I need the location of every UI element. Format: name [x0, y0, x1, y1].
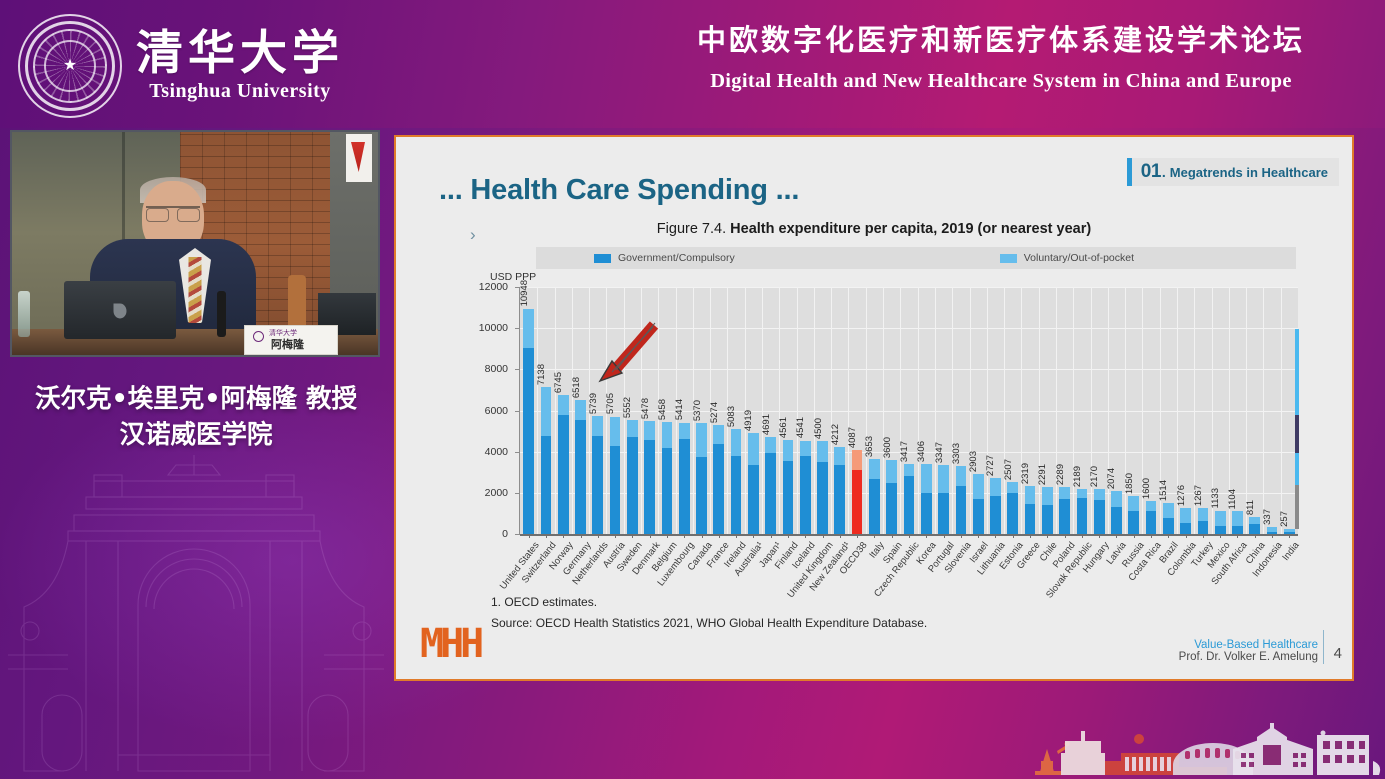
- bar-value-label: 2727: [985, 455, 996, 476]
- bar-segment-voluntary: [1180, 508, 1191, 524]
- bar-segment-government: [852, 470, 863, 534]
- x-axis-tick-mark: [684, 534, 685, 538]
- bar-value-label: 5705: [605, 393, 616, 414]
- bar-segment-voluntary: [1198, 508, 1209, 521]
- y-axis-tick-label: 8000: [466, 363, 508, 375]
- vertical-gridline: [797, 287, 798, 534]
- vertical-gridline: [537, 287, 538, 534]
- x-axis-tick-mark: [788, 534, 789, 538]
- legend-label-voluntary: Voluntary/Out-of-pocket: [1024, 252, 1134, 264]
- bar-segment-government: [765, 453, 776, 534]
- x-axis-tick-mark: [1099, 534, 1100, 538]
- bar-segment-government: [817, 462, 828, 534]
- legend-item-government: Government/Compulsory: [594, 252, 735, 264]
- x-axis-tick-mark: [598, 534, 599, 538]
- bar-segment-voluntary: [990, 478, 1001, 496]
- bar-value-label: 7138: [536, 364, 547, 385]
- bar-segment-voluntary: [904, 464, 915, 476]
- vertical-gridline: [1021, 287, 1022, 534]
- chart-right-scroll-strip[interactable]: [1295, 329, 1299, 529]
- bar-segment-government: [1025, 504, 1036, 534]
- bar-segment-government: [938, 493, 949, 534]
- vertical-gridline: [918, 287, 919, 534]
- bar-segment-government: [558, 415, 569, 534]
- chart-bar: [1059, 487, 1070, 534]
- bar-segment-voluntary: [748, 433, 759, 465]
- bar-segment-voluntary: [973, 474, 984, 498]
- x-axis-tick-mark: [944, 534, 945, 538]
- vertical-gridline: [831, 287, 832, 534]
- bar-segment-voluntary: [575, 400, 586, 420]
- bar-value-label: 4212: [830, 424, 841, 445]
- vertical-gridline: [900, 287, 901, 534]
- bar-segment-government: [1180, 523, 1191, 534]
- bar-value-label: 10948: [519, 280, 530, 306]
- bar-value-label: 4500: [813, 418, 824, 439]
- bar-value-label: 4541: [795, 417, 806, 438]
- x-axis-tick-mark: [840, 534, 841, 538]
- bar-value-label: 4919: [743, 410, 754, 431]
- speaker-name-block: 沃尔克•埃里克•阿梅隆 教授 汉诺威医学院: [0, 381, 392, 453]
- city-skyline-graphic: [995, 723, 1385, 779]
- bar-segment-voluntary: [1163, 503, 1174, 518]
- chart-bar: [852, 450, 863, 534]
- gridline: [520, 411, 1298, 412]
- x-axis-tick-mark: [1134, 534, 1135, 538]
- bar-value-label: 5274: [709, 402, 720, 423]
- x-axis-tick-mark: [995, 534, 996, 538]
- chart-bar: [1025, 486, 1036, 534]
- bar-segment-government: [1128, 511, 1139, 534]
- chart-bar: [627, 420, 638, 534]
- bar-segment-government: [1059, 499, 1070, 534]
- chart-bar: [1042, 487, 1053, 534]
- nameplate-name: 阿梅隆: [271, 336, 304, 352]
- bar-segment-government: [523, 348, 534, 534]
- speaker-name-cn: 沃尔克•埃里克•阿梅隆 教授: [0, 381, 392, 417]
- bar-segment-government: [1077, 498, 1088, 534]
- y-axis-tick-mark: [515, 452, 520, 453]
- bar-value-label: 5739: [588, 393, 599, 414]
- bar-value-label: 5478: [640, 398, 651, 419]
- x-axis-tick-mark: [961, 534, 962, 538]
- bar-segment-government: [1094, 500, 1105, 534]
- legend-swatch-voluntary: [1000, 254, 1017, 263]
- chart-bar: [1198, 508, 1209, 534]
- bar-segment-voluntary: [1249, 517, 1260, 524]
- chart-footnote: 1. OECD estimates.: [491, 595, 597, 609]
- legend-swatch-government: [594, 254, 611, 263]
- gridline: [520, 287, 1298, 288]
- chart-bar: [592, 416, 603, 534]
- bar-segment-voluntary: [558, 395, 569, 414]
- bar-segment-government: [1007, 493, 1018, 534]
- chart-bar: [610, 417, 621, 534]
- vertical-gridline: [1073, 287, 1074, 534]
- bar-segment-voluntary: [886, 460, 897, 483]
- bar-segment-government: [627, 437, 638, 534]
- x-axis-tick-mark: [753, 534, 754, 538]
- chart-bar: [731, 429, 742, 534]
- x-axis-tick-mark: [632, 534, 633, 538]
- chart-bar: [765, 437, 776, 534]
- bar-segment-government: [886, 483, 897, 534]
- chart-bar: [783, 440, 794, 534]
- bar-segment-government: [1232, 526, 1243, 534]
- bar-segment-voluntary: [1284, 529, 1295, 532]
- chart-bar: [990, 478, 1001, 534]
- x-axis-tick-mark: [1168, 534, 1169, 538]
- bar-segment-voluntary: [1042, 487, 1053, 505]
- bar-segment-voluntary: [731, 429, 742, 456]
- vertical-gridline: [1108, 287, 1109, 534]
- bar-segment-government: [921, 493, 932, 534]
- chart-bar: [886, 460, 897, 534]
- bar-value-label: 2189: [1072, 466, 1083, 487]
- bar-segment-government: [1215, 526, 1226, 534]
- bar-segment-government: [956, 486, 967, 534]
- bar-segment-voluntary: [679, 423, 690, 440]
- bar-value-label: 3347: [934, 442, 945, 463]
- x-axis-tick-mark: [719, 534, 720, 538]
- bar-value-label: 2319: [1020, 463, 1031, 484]
- x-axis-tick-mark: [1013, 534, 1014, 538]
- bar-segment-voluntary: [1215, 511, 1226, 526]
- bar-value-label: 2903: [968, 451, 979, 472]
- bar-segment-voluntary: [1094, 489, 1105, 500]
- vertical-gridline: [555, 287, 556, 534]
- chart-bar: [1180, 508, 1191, 534]
- vertical-gridline: [1056, 287, 1057, 534]
- page-divider: [1323, 630, 1325, 664]
- section-label: Megatrends in Healthcare: [1170, 165, 1328, 180]
- vertical-gridline: [987, 287, 988, 534]
- bar-segment-voluntary: [817, 441, 828, 461]
- chart-bar: [1249, 517, 1260, 534]
- bar-value-label: 5552: [622, 397, 633, 418]
- bar-segment-voluntary: [783, 440, 794, 461]
- bar-segment-voluntary: [627, 420, 638, 438]
- bar-segment-government: [592, 436, 603, 534]
- vertical-gridline: [952, 287, 953, 534]
- bar-segment-voluntary: [1267, 527, 1278, 531]
- red-arrow-annotation: [592, 321, 662, 383]
- forum-title-en: Digital Health and New Healthcare System…: [651, 70, 1351, 93]
- bar-value-label: 1276: [1176, 485, 1187, 506]
- legend-item-voluntary: Voluntary/Out-of-pocket: [1000, 252, 1134, 264]
- bar-segment-government: [1198, 521, 1209, 534]
- bar-segment-government: [1163, 518, 1174, 534]
- figure-title: Health expenditure per capita, 2019 (or …: [730, 221, 1091, 237]
- chart-bar: [973, 474, 984, 534]
- bar-segment-voluntary: [1007, 482, 1018, 493]
- x-axis-tick-mark: [1116, 534, 1117, 538]
- chart-bar: [921, 464, 932, 534]
- bar-value-label: 811: [1245, 500, 1256, 515]
- y-axis-tick-mark: [515, 493, 520, 494]
- bar-segment-government: [1249, 524, 1260, 534]
- bar-value-label: 257: [1279, 511, 1290, 527]
- bar-value-label: 3406: [916, 441, 927, 462]
- bar-value-label: 1514: [1158, 480, 1169, 501]
- bar-segment-voluntary: [852, 450, 863, 470]
- chart-bar: [1146, 501, 1157, 534]
- chart-bar: [1077, 489, 1088, 534]
- chart-bar: [1111, 491, 1122, 534]
- x-axis-tick-label: India: [1281, 540, 1302, 563]
- x-axis-tick-mark: [823, 534, 824, 538]
- bar-segment-voluntary: [1111, 491, 1122, 507]
- speaker-video-feed[interactable]: 清华大学 阿梅隆: [10, 130, 380, 357]
- bar-segment-voluntary: [938, 465, 949, 493]
- vertical-gridline: [814, 287, 815, 534]
- tsinghua-logo-block: ★ 清华大学 Tsinghua University: [18, 14, 344, 118]
- bar-segment-government: [990, 496, 1001, 534]
- page-number: 4: [1334, 645, 1342, 662]
- chart-bar: [541, 387, 552, 534]
- bar-value-label: 5370: [692, 400, 703, 421]
- x-axis-tick-mark: [736, 534, 737, 538]
- bar-value-label: 5083: [726, 406, 737, 427]
- chart-bar: [1094, 489, 1105, 534]
- bar-segment-government: [610, 446, 621, 534]
- bar-segment-voluntary: [592, 416, 603, 436]
- y-axis-tick-label: 2000: [466, 487, 508, 499]
- chart-bar: [1128, 496, 1139, 534]
- chart-bar: [1215, 511, 1226, 534]
- vertical-gridline: [762, 287, 763, 534]
- chart-bar: [662, 422, 673, 534]
- chart-bar: [713, 425, 724, 534]
- y-axis-tick-label: 4000: [466, 446, 508, 458]
- x-axis-tick-mark: [978, 534, 979, 538]
- bar-segment-government: [1042, 505, 1053, 534]
- bar-segment-government: [800, 456, 811, 534]
- bar-segment-government: [541, 436, 552, 534]
- figure-caption: Figure 7.4. Health expenditure per capit…: [396, 221, 1352, 237]
- x-axis-tick-mark: [1272, 534, 1273, 538]
- x-axis-tick-mark: [1203, 534, 1204, 538]
- bar-segment-voluntary: [541, 387, 552, 436]
- forum-title-block: 中欧数字化医疗和新医疗体系建设学术论坛 Digital Health and N…: [651, 22, 1351, 93]
- chart-bar: [938, 465, 949, 534]
- x-axis-tick-mark: [702, 534, 703, 538]
- x-axis-tick-mark: [546, 534, 547, 538]
- bar-value-label: 3653: [864, 436, 875, 457]
- x-axis-tick-mark: [1186, 534, 1187, 538]
- x-axis-tick-mark: [1289, 534, 1290, 538]
- footer-brand: Value-Based Healthcare: [1179, 639, 1318, 651]
- x-axis-tick-mark: [909, 534, 910, 538]
- slide-title: ... Health Care Spending ...: [439, 174, 799, 207]
- x-axis-tick-mark: [529, 534, 530, 538]
- bar-segment-government: [783, 461, 794, 534]
- bar-value-label: 4561: [778, 417, 789, 438]
- vertical-gridline: [935, 287, 936, 534]
- x-axis-tick-mark: [563, 534, 564, 538]
- vertical-gridline: [779, 287, 780, 534]
- bar-segment-government: [731, 456, 742, 534]
- bar-segment-government: [662, 448, 673, 534]
- x-axis-tick-mark: [1237, 534, 1238, 538]
- vertical-gridline: [1281, 287, 1282, 534]
- x-axis-tick-mark: [1255, 534, 1256, 538]
- chart-bar: [558, 395, 569, 534]
- chart-bar: [1163, 503, 1174, 534]
- bar-segment-government: [904, 476, 915, 534]
- bar-segment-voluntary: [921, 464, 932, 493]
- vertical-gridline: [848, 287, 849, 534]
- bar-value-label: 5414: [674, 399, 685, 420]
- x-axis-tick-mark: [805, 534, 806, 538]
- health-expenditure-bar-chart: USD PPP 10948713867456518573957055552547…: [396, 273, 1356, 573]
- university-name-en: Tsinghua University: [136, 80, 344, 103]
- chart-legend: Government/Compulsory Voluntary/Out-of-p…: [536, 247, 1296, 269]
- mhh-logo: MHH: [420, 621, 480, 667]
- bar-segment-voluntary: [1077, 489, 1088, 498]
- bar-value-label: 3600: [882, 437, 893, 458]
- slide-footer: Value-Based Healthcare Prof. Dr. Volker …: [1179, 639, 1318, 663]
- bar-segment-voluntary: [800, 441, 811, 457]
- vertical-gridline: [572, 287, 573, 534]
- bar-value-label: 337: [1262, 509, 1273, 525]
- chart-bar: [1232, 511, 1243, 534]
- figure-number: Figure 7.4.: [657, 221, 726, 237]
- vertical-gridline: [1125, 287, 1126, 534]
- y-axis-tick-label: 10000: [466, 322, 508, 334]
- x-axis-tick-mark: [1220, 534, 1221, 538]
- presentation-stage: ★ 清华大学 Tsinghua University 中欧数字化医疗和新医疗体系…: [0, 0, 1385, 779]
- x-axis-tick-mark: [771, 534, 772, 538]
- bar-segment-voluntary: [1128, 496, 1139, 511]
- y-axis-tick-mark: [515, 328, 520, 329]
- bar-segment-government: [973, 499, 984, 534]
- forum-title-cn: 中欧数字化医疗和新医疗体系建设学术论坛: [651, 22, 1351, 60]
- chart-bar: [1267, 527, 1278, 534]
- bar-value-label: 1850: [1124, 473, 1135, 494]
- legend-label-government: Government/Compulsory: [618, 252, 735, 264]
- y-axis-tick-mark: [515, 369, 520, 370]
- bar-value-label: 2507: [1003, 459, 1014, 480]
- y-axis-tick-mark: [515, 287, 520, 288]
- chart-bar: [575, 400, 586, 534]
- bar-value-label: 1600: [1141, 478, 1152, 499]
- bar-segment-voluntary: [765, 437, 776, 452]
- tsinghua-seal-icon: ★: [18, 14, 122, 118]
- bar-value-label: 1104: [1227, 489, 1238, 509]
- y-axis-tick-label: 12000: [466, 281, 508, 293]
- chart-bar: [817, 441, 828, 534]
- bar-segment-voluntary: [869, 459, 880, 480]
- x-axis-tick-mark: [667, 534, 668, 538]
- x-axis-tick-mark: [857, 534, 858, 538]
- y-axis-tick-mark: [515, 534, 520, 535]
- x-axis-tick-mark: [874, 534, 875, 538]
- x-axis-tick-mark: [926, 534, 927, 538]
- bar-segment-voluntary: [523, 309, 534, 348]
- bar-segment-voluntary: [834, 447, 845, 465]
- bar-segment-government: [748, 465, 759, 534]
- bar-segment-government: [679, 439, 690, 534]
- x-axis-tick-mark: [1065, 534, 1066, 538]
- bar-segment-voluntary: [1232, 511, 1243, 525]
- chart-bar: [956, 466, 967, 534]
- chart-bar: [748, 433, 759, 534]
- x-axis-tick-mark: [581, 534, 582, 538]
- bar-value-label: 4691: [761, 414, 772, 435]
- bar-segment-government: [696, 457, 707, 534]
- speaker-affiliation-cn: 汉诺威医学院: [0, 417, 392, 453]
- bar-value-label: 2291: [1037, 464, 1048, 485]
- footer-author: Prof. Dr. Volker E. Amelung: [1179, 651, 1318, 663]
- event-header-banner: ★ 清华大学 Tsinghua University 中欧数字化医疗和新医疗体系…: [0, 0, 1385, 128]
- vertical-gridline: [1246, 287, 1247, 534]
- x-axis-tick-mark: [1082, 534, 1083, 538]
- bar-value-label: 2289: [1055, 464, 1066, 485]
- bar-segment-voluntary: [1059, 487, 1070, 499]
- y-axis-tick-mark: [515, 411, 520, 412]
- section-badge: 01 . Megatrends in Healthcare: [1127, 158, 1339, 186]
- x-axis-tick-mark: [892, 534, 893, 538]
- university-name-cn: 清华大学: [136, 29, 344, 78]
- badge-accent-bar: [1127, 158, 1132, 186]
- speaker-panel: 清华大学 阿梅隆 沃尔克•埃里克•阿梅隆 教授 汉诺威医学院: [0, 128, 392, 779]
- y-axis-tick-label: 0: [466, 528, 508, 540]
- x-axis-tick-mark: [1030, 534, 1031, 538]
- x-axis-tick-mark: [1047, 534, 1048, 538]
- bar-value-label: 2074: [1106, 468, 1117, 489]
- bar-segment-government: [834, 465, 845, 534]
- bar-segment-government: [713, 444, 724, 534]
- bar-value-label: 3303: [951, 443, 962, 464]
- bar-value-label: 4087: [847, 427, 858, 448]
- bar-value-label: 1133: [1210, 488, 1221, 508]
- bar-segment-voluntary: [1146, 501, 1157, 511]
- section-dot: .: [1162, 164, 1166, 180]
- chart-bar: [696, 423, 707, 534]
- bar-value-label: 6518: [571, 377, 582, 398]
- vertical-gridline: [1263, 287, 1264, 534]
- vertical-gridline: [1091, 287, 1092, 534]
- vertical-gridline: [866, 287, 867, 534]
- chart-bar: [800, 441, 811, 534]
- x-axis-tick-mark: [615, 534, 616, 538]
- vertical-gridline: [1004, 287, 1005, 534]
- bar-value-label: 3417: [899, 441, 910, 462]
- vertical-gridline: [1039, 287, 1040, 534]
- bar-segment-voluntary: [713, 425, 724, 443]
- desk-nameplate: 清华大学 阿梅隆: [244, 325, 338, 355]
- bar-value-label: 6745: [553, 372, 564, 393]
- vertical-gridline: [970, 287, 971, 534]
- chart-bar: [1007, 482, 1018, 534]
- bar-segment-government: [869, 479, 880, 534]
- chart-bar: [644, 421, 655, 534]
- x-axis-tick-mark: [650, 534, 651, 538]
- bar-segment-voluntary: [662, 422, 673, 449]
- bar-segment-voluntary: [956, 466, 967, 486]
- bar-value-label: 5458: [657, 399, 668, 420]
- bar-segment-voluntary: [696, 423, 707, 456]
- bar-segment-voluntary: [610, 417, 621, 446]
- bar-segment-government: [575, 420, 586, 534]
- bar-segment-voluntary: [1025, 486, 1036, 504]
- chart-bar: [679, 423, 690, 534]
- chart-bar: [869, 459, 880, 534]
- bar-value-label: 1267: [1193, 485, 1204, 506]
- y-axis-tick-label: 6000: [466, 405, 508, 417]
- chart-source: Source: OECD Health Statistics 2021, WHO…: [491, 616, 927, 630]
